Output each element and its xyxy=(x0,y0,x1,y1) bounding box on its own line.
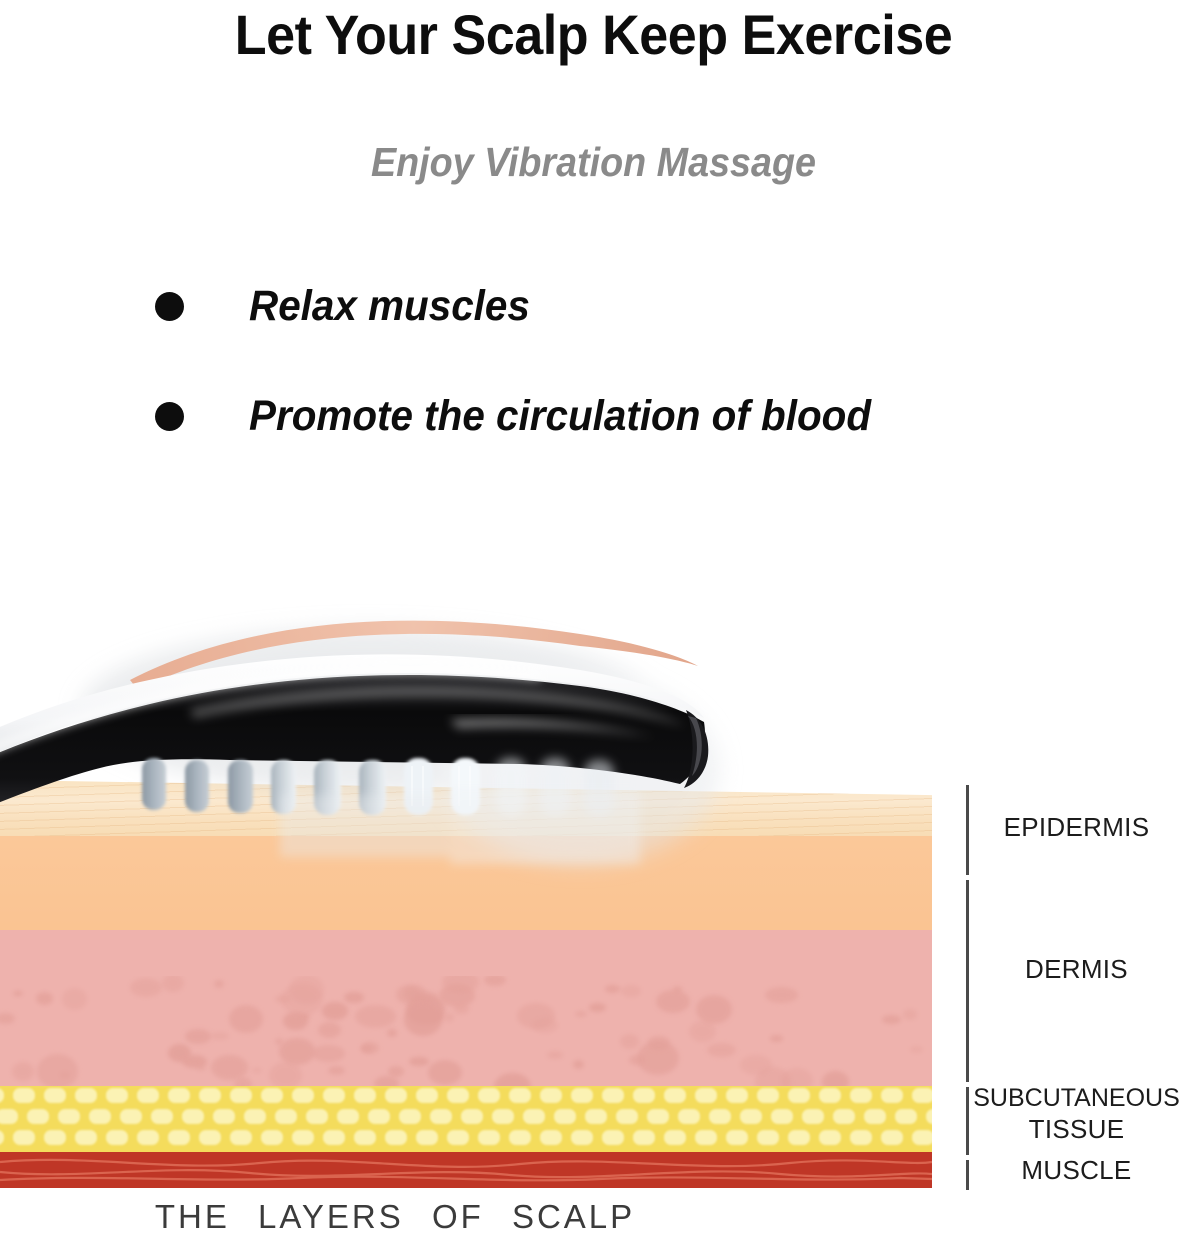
infographic-page: Let Your Scalp Keep Exercise Enjoy Vibra… xyxy=(0,0,1187,1245)
surface-striations xyxy=(0,780,932,838)
fat-cell xyxy=(726,1088,748,1103)
fat-cell xyxy=(75,1130,97,1145)
fat-cell xyxy=(585,1109,607,1124)
fat-cell xyxy=(337,1109,359,1124)
dermis-spot xyxy=(428,1060,462,1085)
dermis-spot xyxy=(12,1062,34,1081)
dermis-spot xyxy=(361,1045,372,1051)
label-dermis: DERMIS xyxy=(966,954,1187,984)
fat-cell xyxy=(430,1109,452,1124)
label-epidermis: EPIDERMIS xyxy=(966,812,1187,842)
fat-cell xyxy=(137,1088,159,1103)
fat-cell xyxy=(492,1109,514,1124)
muscle-layer xyxy=(0,1152,932,1188)
dermis-spot xyxy=(621,985,641,997)
dermis-spot xyxy=(269,1062,302,1086)
fat-cell xyxy=(695,1088,717,1103)
dermis-spot xyxy=(532,1018,558,1033)
fat-cell xyxy=(771,1109,793,1124)
dermis-texture-spots xyxy=(0,976,932,1086)
dermis-spot xyxy=(648,1036,669,1049)
fat-cell xyxy=(199,1088,221,1103)
fat-cell xyxy=(616,1109,638,1124)
fat-cell xyxy=(213,1109,235,1124)
dermis-spot xyxy=(404,1003,442,1036)
fat-cell xyxy=(509,1088,531,1103)
fat-cell xyxy=(881,1130,903,1145)
fat-cell xyxy=(447,1130,469,1145)
fat-cell xyxy=(895,1109,917,1124)
dermis-spot xyxy=(903,1009,917,1020)
fat-cell xyxy=(230,1130,252,1145)
fat-cell xyxy=(0,1109,18,1124)
page-subtitle: Enjoy Vibration Massage xyxy=(47,139,1139,186)
fat-cell xyxy=(244,1109,266,1124)
list-item: Promote the circulation of blood xyxy=(155,385,1155,447)
dermis-spot xyxy=(214,980,224,987)
dermis-spot xyxy=(696,995,732,1024)
fat-cell xyxy=(740,1109,762,1124)
fat-cell xyxy=(926,1109,932,1124)
dermis-spot xyxy=(13,991,23,996)
fat-cell xyxy=(106,1130,128,1145)
fat-cell xyxy=(757,1088,779,1103)
benefits-list: Relax muscles Promote the circulation of… xyxy=(155,275,1155,495)
dermis-spot xyxy=(409,1057,429,1066)
fat-cell xyxy=(75,1088,97,1103)
fat-cell xyxy=(323,1088,345,1103)
fat-cell xyxy=(13,1130,35,1145)
fat-cell xyxy=(27,1109,49,1124)
fat-cell xyxy=(912,1130,932,1145)
fat-cell xyxy=(802,1109,824,1124)
fat-cell xyxy=(523,1109,545,1124)
list-item: Relax muscles xyxy=(155,275,1155,337)
rete-ridges xyxy=(0,930,932,982)
dermis-spot xyxy=(673,986,683,993)
fat-cell xyxy=(509,1130,531,1145)
dermis-spot xyxy=(185,1029,211,1044)
fat-cell xyxy=(447,1088,469,1103)
fat-cell xyxy=(571,1088,593,1103)
fat-cell xyxy=(416,1130,438,1145)
dermis-spot xyxy=(573,1060,584,1069)
fat-cell xyxy=(850,1130,872,1145)
fat-cell xyxy=(709,1109,731,1124)
label-subcutaneous-tissue: TISSUE xyxy=(966,1114,1187,1144)
dermis-spot xyxy=(211,1055,249,1081)
fat-cell xyxy=(385,1088,407,1103)
fat-cell xyxy=(664,1088,686,1103)
dermis-spot xyxy=(707,1043,736,1057)
dermis-spot xyxy=(229,1005,263,1033)
dermis-spot xyxy=(62,988,87,1010)
dermis-spot xyxy=(575,1011,587,1017)
fat-cell xyxy=(120,1109,142,1124)
stratum-surface-plane xyxy=(0,780,932,838)
fat-cell xyxy=(416,1088,438,1103)
fat-cell xyxy=(44,1088,66,1103)
dermis-spot xyxy=(301,1014,310,1019)
fat-cell xyxy=(323,1130,345,1145)
dermis-spot xyxy=(355,1005,396,1028)
fat-cell xyxy=(478,1130,500,1145)
fat-cell xyxy=(106,1088,128,1103)
fat-cell xyxy=(461,1109,483,1124)
fat-cell-grid xyxy=(0,1086,932,1152)
fat-cell xyxy=(540,1088,562,1103)
dermis-spot xyxy=(0,1013,15,1024)
fat-cell xyxy=(633,1130,655,1145)
fat-cell xyxy=(385,1130,407,1145)
fat-cell xyxy=(292,1130,314,1145)
fat-cell xyxy=(695,1130,717,1145)
dermis-spot xyxy=(322,1002,349,1019)
scalp-cross-section-diagram xyxy=(0,780,932,1190)
fat-cell xyxy=(44,1130,66,1145)
fat-cell xyxy=(13,1088,35,1103)
dermis-spot xyxy=(589,1003,606,1012)
fat-cell xyxy=(168,1130,190,1145)
dermis-spot xyxy=(234,1077,252,1086)
fat-cell xyxy=(912,1088,932,1103)
dermis-spot xyxy=(494,1073,531,1086)
fat-cell xyxy=(58,1109,80,1124)
dermis-spot xyxy=(318,1022,341,1039)
fat-cell xyxy=(864,1109,886,1124)
fat-cell xyxy=(261,1088,283,1103)
fat-cell xyxy=(881,1088,903,1103)
fat-cell xyxy=(540,1130,562,1145)
dermis-spot xyxy=(162,976,185,992)
fat-cell xyxy=(647,1109,669,1124)
dermis-spot xyxy=(454,1004,468,1014)
fat-cell xyxy=(788,1130,810,1145)
subcutaneous-fat-layer xyxy=(0,1086,932,1152)
dermis-spot xyxy=(312,1045,345,1061)
fat-cell xyxy=(261,1130,283,1145)
fat-cell xyxy=(633,1088,655,1103)
fat-cell xyxy=(478,1088,500,1103)
diagram-caption: THE LAYERS OF SCALP xyxy=(0,1198,790,1236)
dermis-spot xyxy=(484,976,506,986)
fat-cell xyxy=(199,1130,221,1145)
fat-cell xyxy=(726,1130,748,1145)
fat-cell xyxy=(0,1130,4,1145)
fat-cell xyxy=(368,1109,390,1124)
dermis-spot xyxy=(765,987,799,1003)
fat-cell xyxy=(151,1109,173,1124)
dermis-spot xyxy=(620,1034,638,1049)
dermis-spot xyxy=(822,1071,849,1086)
filled-circle-bullet-icon xyxy=(155,292,184,321)
fat-cell xyxy=(571,1130,593,1145)
fat-cell xyxy=(399,1109,421,1124)
dermis-spot xyxy=(279,1038,315,1065)
dermis-spot xyxy=(770,1035,783,1041)
fat-cell xyxy=(354,1088,376,1103)
epidermis-layer xyxy=(0,836,932,944)
fat-cell xyxy=(664,1130,686,1145)
fat-cell xyxy=(0,1088,4,1103)
fat-cell xyxy=(819,1130,841,1145)
layer-labels: EPIDERMIS DERMIS SUBCUTANEOUS TISSUE MUS… xyxy=(966,780,1187,1192)
dermis-spot xyxy=(882,1015,901,1024)
dermis-spot xyxy=(328,1066,344,1075)
fat-cell xyxy=(850,1088,872,1103)
fat-cell xyxy=(602,1088,624,1103)
filled-circle-bullet-icon xyxy=(155,402,184,431)
dermis-spot xyxy=(130,978,162,997)
fat-cell xyxy=(306,1109,328,1124)
fat-cell xyxy=(819,1088,841,1103)
dermis-spot xyxy=(252,1068,262,1073)
label-muscle: MUSCLE xyxy=(966,1155,1187,1185)
fat-cell xyxy=(137,1130,159,1145)
benefit-label: Promote the circulation of blood xyxy=(249,392,871,441)
dermis-spot xyxy=(374,1076,399,1087)
dermis-spot xyxy=(910,1046,923,1054)
fat-cell xyxy=(182,1109,204,1124)
fat-cell xyxy=(275,1109,297,1124)
fat-cell xyxy=(292,1088,314,1103)
dermis-spot xyxy=(656,990,691,1014)
fat-cell xyxy=(602,1130,624,1145)
fat-cell xyxy=(757,1130,779,1145)
fat-cell xyxy=(554,1109,576,1124)
fat-cell xyxy=(833,1109,855,1124)
fat-cell xyxy=(230,1088,252,1103)
fat-cell xyxy=(89,1109,111,1124)
dermis-spot xyxy=(444,1013,454,1021)
label-subcutaneous: SUBCUTANEOUS xyxy=(966,1083,1187,1113)
dermis-spot xyxy=(416,991,437,1003)
dermis-spot xyxy=(36,992,53,1005)
dermis-spot xyxy=(547,1051,563,1058)
fat-cell xyxy=(168,1088,190,1103)
benefit-label: Relax muscles xyxy=(249,282,530,331)
page-title: Let Your Scalp Keep Exercise xyxy=(42,2,1146,67)
fat-cell xyxy=(354,1130,376,1145)
fat-cell xyxy=(678,1109,700,1124)
fat-cell xyxy=(788,1088,810,1103)
dermis-spot xyxy=(387,1029,397,1038)
dermis-spot xyxy=(344,992,364,1004)
dermis-spot xyxy=(629,1055,644,1064)
dermis-spot xyxy=(37,1054,78,1086)
dermis-spot xyxy=(211,1032,228,1040)
dermis-spot xyxy=(605,985,620,994)
